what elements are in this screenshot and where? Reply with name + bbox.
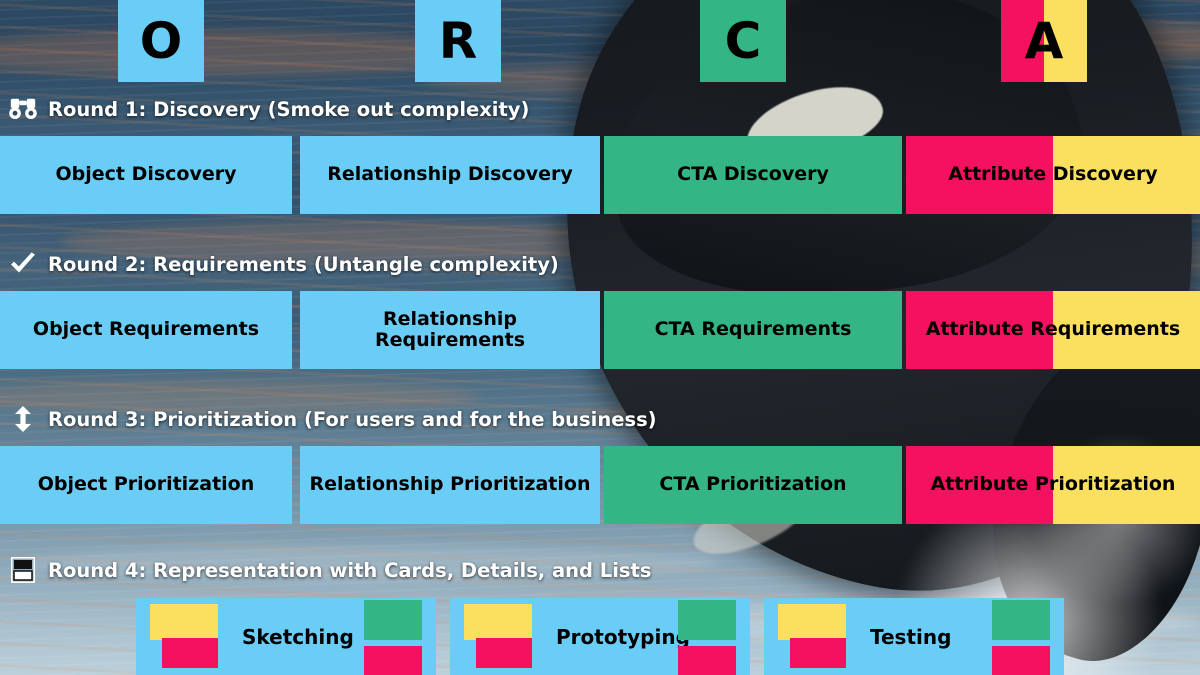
round-title: Round 2: Requirements (Untangle complexi… <box>48 253 559 276</box>
sticky-yellow-swatch <box>150 604 218 640</box>
sticky-pink-swatch-2 <box>992 646 1050 675</box>
round-header-1: Round 1: Discovery (Smoke out complexity… <box>8 96 529 122</box>
acronym-tile-c: C <box>700 0 786 82</box>
card-label: Testing <box>870 625 951 649</box>
round-3-cell-1[interactable]: Object Prioritization <box>0 446 292 524</box>
round-title: Round 4: Representation with Cards, Deta… <box>48 559 651 582</box>
sticky-pink-swatch <box>162 638 218 668</box>
round-3-cell-4[interactable]: Attribute Prioritization <box>906 446 1200 524</box>
binoculars-icon <box>8 97 38 121</box>
cell-label: Attribute Discovery <box>948 164 1157 185</box>
round-4-card-3[interactable]: Testing <box>764 598 1064 675</box>
up-down-arrow-icon <box>13 406 33 432</box>
cell-label: Relationship Discovery <box>327 164 573 185</box>
round-2-cell-2[interactable]: Relationship Requirements <box>300 291 600 369</box>
sticky-pink-swatch <box>790 638 846 668</box>
checkmark-icon <box>8 251 38 277</box>
round-header-4: Round 4: Representation with Cards, Deta… <box>8 557 651 583</box>
cell-label: CTA Prioritization <box>659 474 846 495</box>
sticky-green-swatch <box>992 600 1050 640</box>
cell-label: Relationship Prioritization <box>310 474 591 495</box>
card-layout-icon <box>8 557 38 583</box>
sticky-pink-swatch-2 <box>678 646 736 675</box>
round-4-card-1[interactable]: Sketching <box>136 598 436 675</box>
round-3-cell-2[interactable]: Relationship Prioritization <box>300 446 600 524</box>
acronym-letter-glyph: O <box>140 16 183 66</box>
card-layout-icon <box>11 557 35 583</box>
round-title: Round 1: Discovery (Smoke out complexity… <box>48 98 529 121</box>
round-1-cell-3[interactable]: CTA Discovery <box>604 136 902 214</box>
round-1-cell-1[interactable]: Object Discovery <box>0 136 292 214</box>
slide-canvas: ORCA Round 1: Discovery (Smoke out compl… <box>0 0 1200 675</box>
sticky-yellow-swatch <box>778 604 846 640</box>
acronym-letter-glyph: R <box>439 16 478 66</box>
acronym-tile-a: A <box>1001 0 1087 82</box>
cell-label: Relationship Requirements <box>306 309 594 352</box>
up-down-arrow-icon <box>8 406 38 432</box>
round-3-cell-3[interactable]: CTA Prioritization <box>604 446 902 524</box>
acronym-tile-r: R <box>415 0 501 82</box>
round-header-3: Round 3: Prioritization (For users and f… <box>8 406 657 432</box>
cell-label: Attribute Requirements <box>926 319 1180 340</box>
round-1-cell-2[interactable]: Relationship Discovery <box>300 136 600 214</box>
round-2-cell-4[interactable]: Attribute Requirements <box>906 291 1200 369</box>
sticky-green-swatch <box>364 600 422 640</box>
round-4-card-2[interactable]: Prototyping <box>450 598 750 675</box>
sticky-pink-swatch-2 <box>364 646 422 675</box>
round-2-cell-3[interactable]: CTA Requirements <box>604 291 902 369</box>
acronym-letter-glyph: C <box>725 16 762 66</box>
cell-label: Object Requirements <box>33 319 259 340</box>
round-1-cell-4[interactable]: Attribute Discovery <box>906 136 1200 214</box>
card-label: Sketching <box>242 625 354 649</box>
round-title: Round 3: Prioritization (For users and f… <box>48 408 657 431</box>
cell-label: Attribute Prioritization <box>931 474 1176 495</box>
cell-label: CTA Requirements <box>655 319 852 340</box>
sticky-green-swatch <box>678 600 736 640</box>
cell-label: Object Prioritization <box>38 474 255 495</box>
sticky-yellow-swatch <box>464 604 532 640</box>
binoculars-icon <box>8 96 38 122</box>
acronym-tile-o: O <box>118 0 204 82</box>
round-header-2: Round 2: Requirements (Untangle complexi… <box>8 251 559 277</box>
cell-label: CTA Discovery <box>677 164 829 185</box>
sticky-pink-swatch <box>476 638 532 668</box>
card-label: Prototyping <box>556 625 690 649</box>
round-2-cell-1[interactable]: Object Requirements <box>0 291 292 369</box>
cell-label: Object Discovery <box>55 164 236 185</box>
acronym-letter-glyph: A <box>1025 16 1064 66</box>
checkmark-icon <box>9 252 37 276</box>
